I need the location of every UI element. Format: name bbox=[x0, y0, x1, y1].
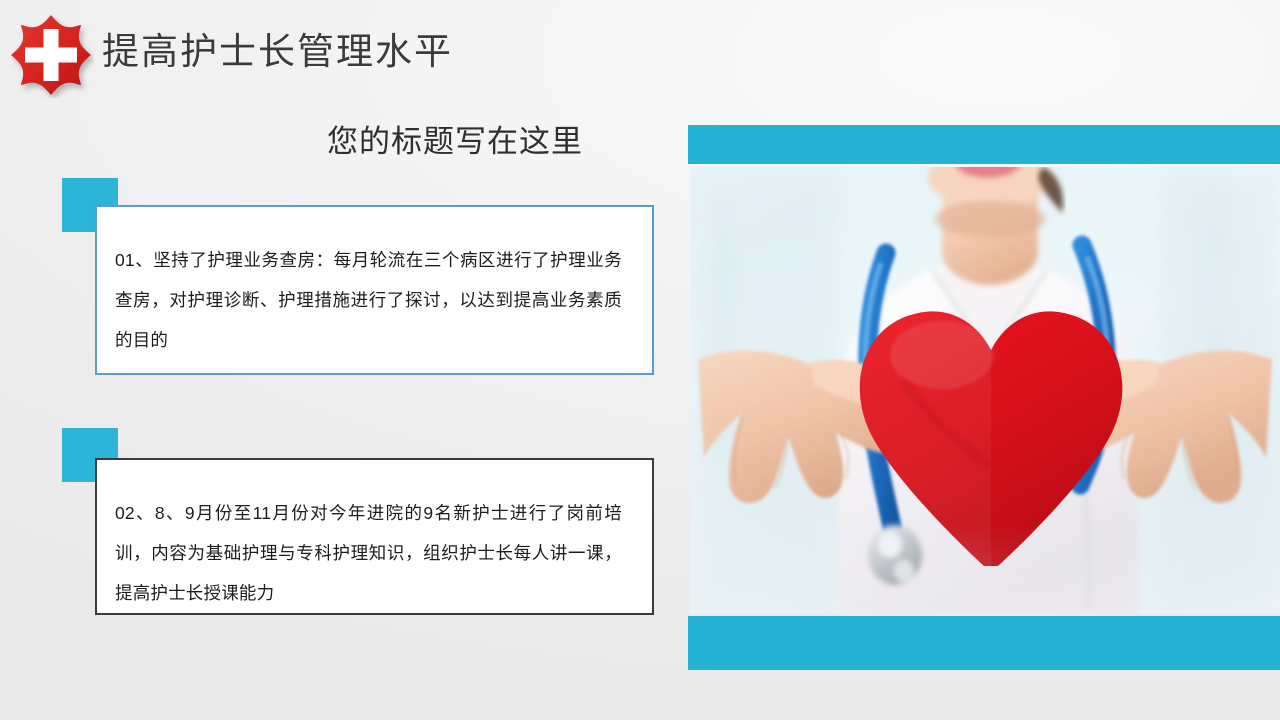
doctor-holding-red-heart-photo bbox=[690, 167, 1280, 614]
cyan-bar-bottom bbox=[688, 616, 1280, 670]
content-card-1-text: 01、坚持了护理业务查房：每月轮流在三个病区进行了护理业务查房，对护理诊断、护理… bbox=[115, 240, 622, 360]
content-card-2-text: 02、8、9月份至11月份对今年进院的9名新护士进行了岗前培训，内容为基础护理与… bbox=[115, 493, 622, 613]
slide-header: 提高护士长管理水平 bbox=[0, 0, 1280, 108]
red-medical-cross-logo-icon bbox=[8, 12, 94, 98]
content-card-1[interactable]: 01、坚持了护理业务查房：每月轮流在三个病区进行了护理业务查房，对护理诊断、护理… bbox=[95, 205, 654, 375]
content-card-2[interactable]: 02、8、9月份至11月份对今年进院的9名新护士进行了岗前培训，内容为基础护理与… bbox=[95, 458, 654, 615]
slide-canvas: 提高护士长管理水平 您的标题写在这里 01、坚持了护理业务查房：每月轮流在三个病… bbox=[0, 0, 1280, 720]
page-title: 提高护士长管理水平 bbox=[102, 24, 453, 80]
section-title: 您的标题写在这里 bbox=[240, 120, 670, 164]
cyan-bar-top bbox=[688, 125, 1280, 164]
